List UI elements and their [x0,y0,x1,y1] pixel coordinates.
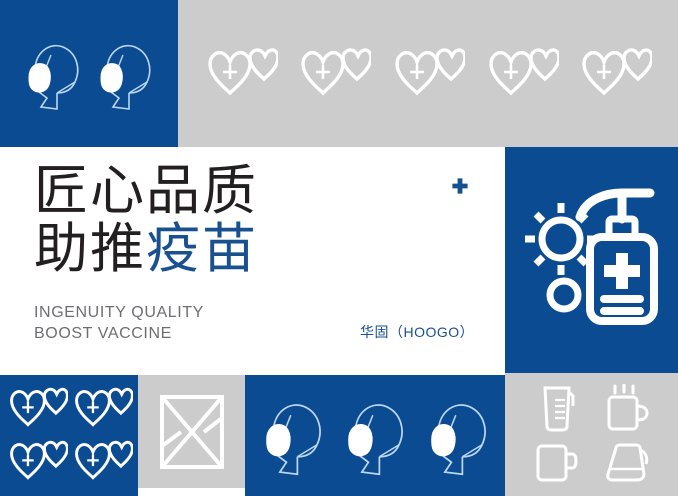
headline-card-strip [0,359,505,375]
steaming-mug-icon [603,384,649,432]
kettle-icon [602,442,650,484]
double-heart-plus-icon [578,46,652,102]
headline-line-2-dark: 助推 [34,217,146,280]
subtitle-line-1: INGENUITY QUALITY [34,302,204,323]
top-heart-icon-group [178,0,678,147]
double-heart-plus-icon [391,46,465,102]
page-title: 匠心品质 助推疫苗 [34,162,334,278]
double-heart-plus-icon [485,46,559,102]
sanitizer-icon-group [505,147,678,373]
double-heart-plus-icon [297,46,371,102]
mug-icon [534,442,580,484]
masked-face-icon [93,35,157,113]
headline-line-2: 助推疫苗 [34,220,334,278]
masked-face-icon [21,35,85,113]
subtitle-line-2: BOOST VACCINE [34,323,204,344]
measuring-beaker-icon [537,384,577,432]
hand-sanitizer-pump-icon [524,185,660,335]
top-mask-icon-group [0,0,178,147]
bottom-mask-icon-group [245,375,505,496]
headline-line-2-blue: 疫苗 [146,217,258,280]
bottom-vessel-icon-group [505,375,678,496]
poster-canvas: 匠心品质 助推疫苗 INGENUITY QUALITY BOOST VACCIN… [0,0,678,496]
brand-name: 华固（HOOGO） [360,322,474,342]
masked-face-icon [340,393,410,479]
plus-icon [450,176,470,196]
double-heart-plus-icon [71,386,133,432]
double-heart-plus-icon [6,439,68,485]
germ-dot-icon [550,281,578,309]
subtitle: INGENUITY QUALITY BOOST VACCINE [34,302,204,344]
headline-line-1: 匠心品质 [34,162,334,220]
bottom-heart-icon-group [0,375,138,496]
double-heart-plus-icon [6,386,68,432]
crossed-box-placeholder-icon [159,394,225,470]
placeholder-icon-wrap [138,375,245,488]
double-heart-plus-icon [204,46,278,102]
double-heart-plus-icon [71,439,133,485]
masked-face-icon [258,393,328,479]
masked-face-icon [423,393,493,479]
